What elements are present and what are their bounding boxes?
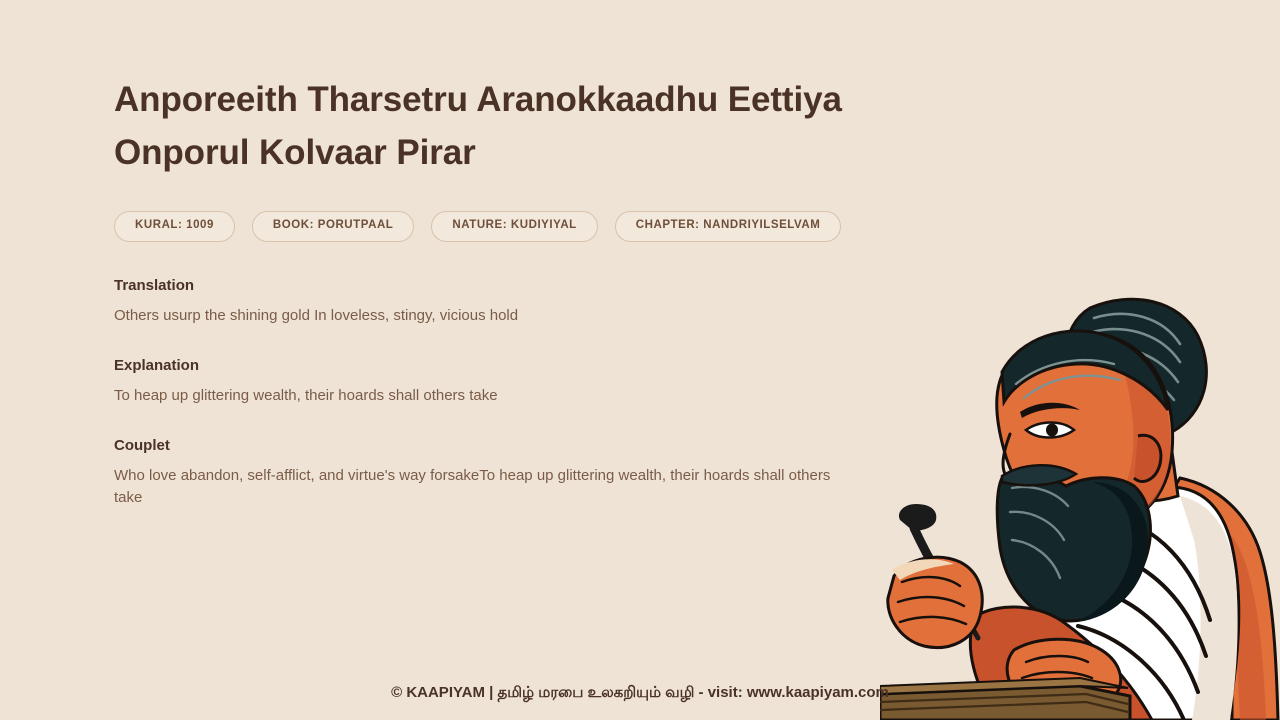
- translation-section: Translation Others usurp the shining gol…: [114, 277, 874, 327]
- explanation-label: Explanation: [114, 357, 874, 374]
- couplet-text: Who love abandon, self-afflict, and virt…: [114, 465, 839, 509]
- translation-text: Others usurp the shining gold In loveles…: [114, 305, 839, 327]
- page-title: Anporeeith Tharsetru Aranokkaadhu Eettiy…: [114, 74, 869, 179]
- metadata-badge-row: KURAL: 1009 BOOK: PORUTPAAL NATURE: KUDI…: [114, 211, 874, 242]
- status-badge-kural-number: KURAL: 1009: [114, 211, 235, 242]
- couplet-label: Couplet: [114, 437, 874, 454]
- couplet-section: Couplet Who love abandon, self-afflict, …: [114, 437, 874, 509]
- status-badge-chapter: CHAPTER: NANDRIYILSELVAM: [615, 211, 842, 242]
- status-badge-nature: NATURE: KUDIYIYAL: [431, 211, 597, 242]
- translation-label: Translation: [114, 277, 874, 294]
- content-column: Anporeeith Tharsetru Aranokkaadhu Eettiy…: [114, 74, 874, 509]
- footer-credit: © KAAPIYAM | தமிழ் மரபை உலகறியும் வழி - …: [0, 684, 1280, 703]
- explanation-text: To heap up glittering wealth, their hoar…: [114, 385, 839, 407]
- kural-card: Anporeeith Tharsetru Aranokkaadhu Eettiy…: [0, 0, 1280, 720]
- status-badge-book: BOOK: PORUTPAAL: [252, 211, 414, 242]
- explanation-section: Explanation To heap up glittering wealth…: [114, 357, 874, 407]
- thiruvalluvar-illustration: [880, 290, 1280, 720]
